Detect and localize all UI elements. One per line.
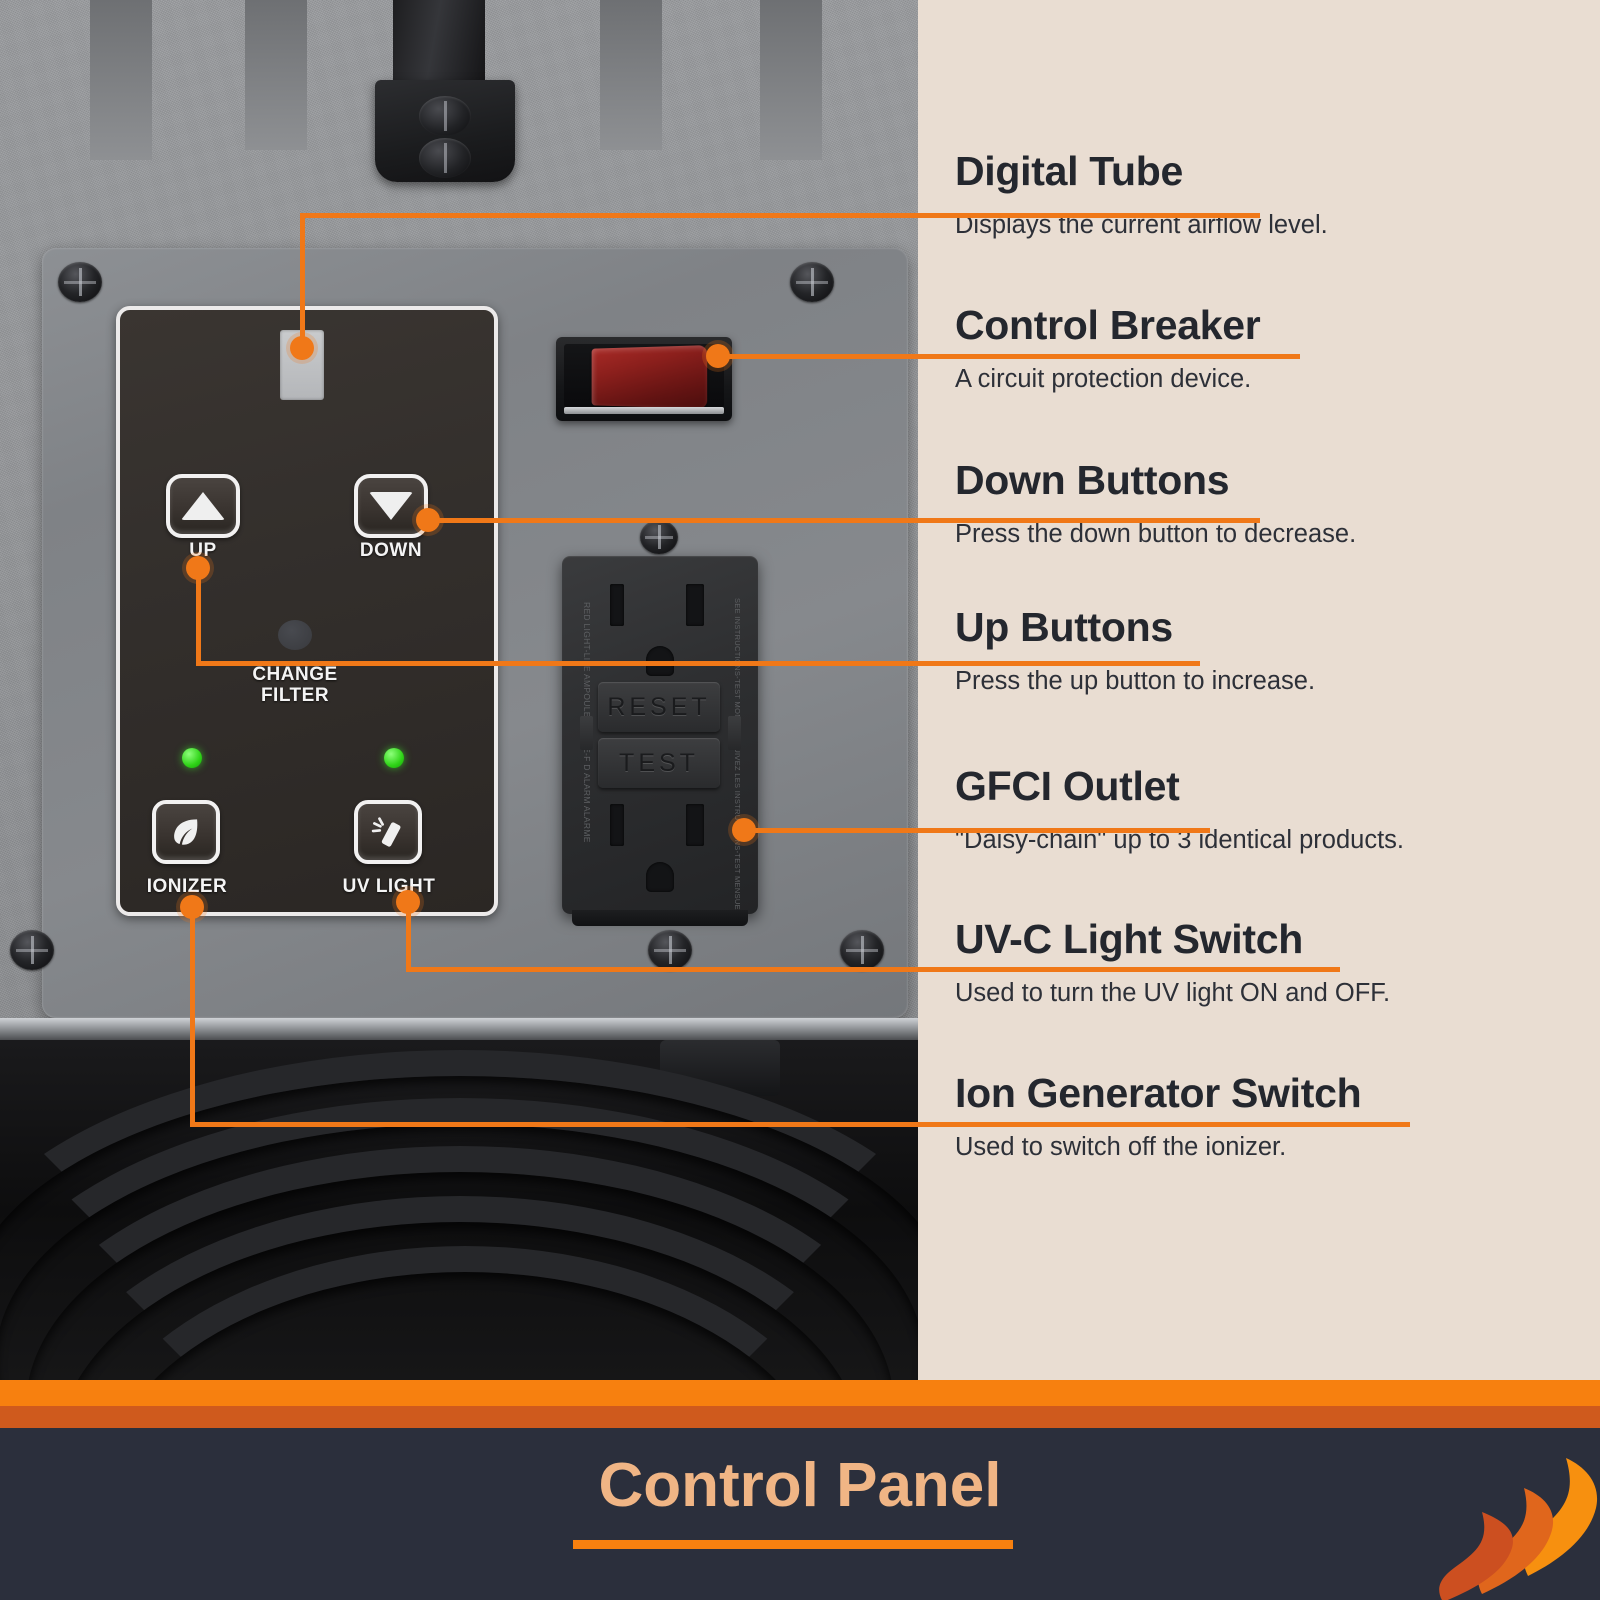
- callout-desc-up-buttons: Press the up button to increase.: [955, 666, 1315, 697]
- flame-logo: [1416, 1450, 1600, 1600]
- callout-title-up-buttons: Up Buttons: [955, 606, 1315, 649]
- connector-gfci-outlet: [744, 828, 960, 833]
- change-filter-label-line2: FILTER: [230, 685, 360, 707]
- connector-uv-light-h: [406, 967, 960, 972]
- banner-stripe-middle: [0, 1394, 1600, 1406]
- faceplate-screw-bl: [10, 930, 54, 970]
- power-cord-coil: [0, 1040, 918, 1380]
- callout-rule-uv-c-light: [955, 967, 1340, 972]
- callout-desc-down-buttons: Press the down button to decrease.: [955, 519, 1356, 550]
- faceplate-screw-bc: [648, 930, 692, 970]
- uv-lamp-icon: [369, 813, 407, 851]
- triangle-down-icon: [369, 492, 413, 520]
- leaf-icon: [167, 813, 205, 851]
- gfci-reset-button[interactable]: RESET: [598, 682, 720, 732]
- product-photo: UP DOWN CHANGE FILTER IONIZER UV LIGHT: [0, 0, 918, 1380]
- housing-groove-mid: [245, 0, 307, 150]
- handle-screw-bottom: [419, 138, 471, 178]
- handle-mount-plate: [375, 80, 515, 182]
- connector-up-buttons-h: [196, 661, 960, 666]
- callout-up-buttons: Up Buttons Press the up button to increa…: [955, 606, 1315, 697]
- breaker-base-trim: [564, 407, 724, 414]
- uv-light-button[interactable]: [354, 800, 422, 864]
- gfci-bottom-slot-narrow: [610, 804, 624, 846]
- faceplate-screw-tl: [58, 262, 102, 302]
- connector-uv-light-v: [406, 900, 411, 972]
- down-button[interactable]: [354, 474, 428, 538]
- connector-control-breaker: [718, 354, 960, 359]
- banner-title: Control Panel: [0, 1450, 1600, 1521]
- gfci-bottom-ground: [646, 862, 674, 892]
- connector-ion-generator-v: [190, 905, 195, 1127]
- breaker-bezel-inner: [564, 344, 724, 408]
- control-breaker[interactable]: [556, 337, 732, 421]
- banner-title-underline: [573, 1540, 1013, 1549]
- down-button-label: DOWN: [336, 540, 446, 562]
- uv-light-led: [384, 748, 404, 768]
- callout-title-ion-generator: Ion Generator Switch: [955, 1072, 1361, 1115]
- change-filter-indicator: [278, 620, 312, 650]
- callout-gfci-outlet: GFCI Outlet "Daisy-chain" up to 3 identi…: [955, 765, 1404, 856]
- callout-title-digital-tube: Digital Tube: [955, 150, 1328, 193]
- gfci-bottom-slot-wide: [686, 804, 704, 846]
- gfci-bottom-lip: [572, 910, 748, 926]
- housing-groove-far: [760, 0, 822, 160]
- triangle-up-icon: [181, 492, 225, 520]
- ionizer-button[interactable]: [152, 800, 220, 864]
- change-filter-label-line1: CHANGE: [230, 664, 360, 686]
- callout-rule-ion-generator: [955, 1122, 1410, 1127]
- callout-rule-control-breaker: [955, 354, 1300, 359]
- callout-title-down-buttons: Down Buttons: [955, 459, 1356, 502]
- gfci-side-text-right: SEE INSTRUCTIONS-TEST MONTHLY SUIVEZ LES…: [733, 598, 742, 914]
- faceplate-screw-tr: [790, 262, 834, 302]
- uv-light-button-label: UV LIGHT: [326, 876, 452, 898]
- gfci-tab-right: [728, 716, 741, 750]
- ionizer-led: [182, 748, 202, 768]
- callout-desc-uv-c-light: Used to turn the UV light ON and OFF.: [955, 978, 1390, 1009]
- housing-groove-right: [600, 0, 662, 150]
- callout-rule-digital-tube: [955, 213, 1260, 218]
- breaker-rocker-switch[interactable]: [592, 345, 708, 409]
- callout-title-gfci-outlet: GFCI Outlet: [955, 765, 1404, 808]
- connector-up-buttons-v: [196, 566, 201, 666]
- connector-digital-tube-v: [300, 213, 305, 348]
- callout-rule-gfci-outlet: [955, 828, 1210, 833]
- connector-digital-tube-h: [300, 213, 960, 218]
- callout-uv-c-light: UV-C Light Switch Used to turn the UV li…: [955, 918, 1390, 1009]
- callout-title-uv-c-light: UV-C Light Switch: [955, 918, 1390, 961]
- banner-stripe-bottom: [0, 1406, 1600, 1428]
- housing-groove-left: [90, 0, 152, 160]
- housing-bottom-trim: [0, 1018, 918, 1040]
- callout-control-breaker: Control Breaker A circuit protection dev…: [955, 304, 1260, 395]
- callout-down-buttons: Down Buttons Press the down button to de…: [955, 459, 1356, 550]
- infographic-root: UP DOWN CHANGE FILTER IONIZER UV LIGHT: [0, 0, 1600, 1600]
- callout-title-control-breaker: Control Breaker: [955, 304, 1260, 347]
- gfci-top-slot-narrow: [610, 584, 624, 626]
- gfci-top-slot-wide: [686, 584, 704, 626]
- gfci-outlet[interactable]: RED LIGHT-LIFE AMPOULE ROUGE-F D ALARM A…: [562, 556, 758, 914]
- connector-ion-generator-h: [190, 1122, 960, 1127]
- gfci-test-button[interactable]: TEST: [598, 738, 720, 788]
- callout-digital-tube: Digital Tube Displays the current airflo…: [955, 150, 1328, 241]
- callout-desc-control-breaker: A circuit protection device.: [955, 364, 1260, 395]
- connector-down-buttons: [428, 518, 960, 523]
- callout-ion-generator: Ion Generator Switch Used to switch off …: [955, 1072, 1361, 1163]
- handle-screw-top: [419, 96, 471, 136]
- callout-rule-down-buttons: [955, 518, 1260, 523]
- gfci-tab-left: [580, 716, 593, 750]
- up-button[interactable]: [166, 474, 240, 538]
- banner-stripe-top: [0, 1380, 1600, 1394]
- faceplate-screw-br: [840, 930, 884, 970]
- faceplate-screw-outlet-top: [640, 520, 678, 554]
- callout-rule-up-buttons: [955, 661, 1200, 666]
- callout-desc-ion-generator: Used to switch off the ionizer.: [955, 1132, 1361, 1163]
